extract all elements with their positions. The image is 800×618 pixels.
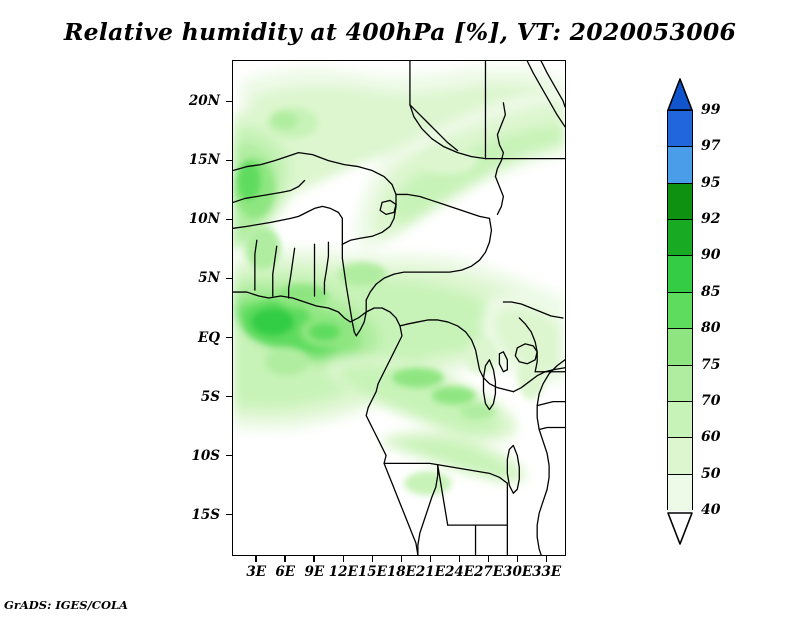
colorbar-tick-label: 95 bbox=[701, 175, 720, 191]
colorbar-tick-label: 40 bbox=[701, 502, 720, 518]
x-axis-tick bbox=[255, 556, 257, 562]
colorbar-arrow-bottom bbox=[667, 512, 693, 545]
colorbar-tick-label: 60 bbox=[701, 429, 720, 445]
y-axis-tick-label: 20N bbox=[170, 93, 220, 109]
y-axis-tick bbox=[226, 337, 232, 339]
x-axis-tick bbox=[372, 556, 374, 562]
y-axis-tick-label: 10S bbox=[170, 448, 220, 464]
colorbar-tick-label: 75 bbox=[701, 357, 720, 373]
colorbar-bands bbox=[667, 110, 693, 510]
colorbar-band bbox=[668, 111, 692, 147]
y-axis-tick-label: 10N bbox=[170, 211, 220, 227]
colorbar-tick-label: 97 bbox=[701, 138, 720, 154]
x-axis-tick-label: 33E bbox=[522, 564, 572, 580]
x-axis-tick bbox=[401, 556, 403, 562]
colorbar-arrow-top bbox=[667, 78, 693, 111]
colorbar-band bbox=[668, 329, 692, 365]
y-axis-tick bbox=[226, 101, 232, 103]
x-axis-tick bbox=[343, 556, 345, 562]
y-axis-tick-label: 5N bbox=[170, 270, 220, 286]
colorbar-tick-label: 92 bbox=[701, 211, 720, 227]
y-axis-tick bbox=[226, 514, 232, 516]
y-axis-tick-label: 5S bbox=[170, 389, 220, 405]
colorbar-band bbox=[668, 438, 692, 474]
y-axis-tick bbox=[226, 396, 232, 398]
x-axis-tick bbox=[430, 556, 432, 562]
y-axis-tick bbox=[226, 455, 232, 457]
colorbar-band bbox=[668, 366, 692, 402]
plot-frame bbox=[232, 60, 566, 556]
colorbar-tick-label: 70 bbox=[701, 393, 720, 409]
y-axis-tick bbox=[226, 160, 232, 162]
attribution-label: GrADS: IGES/COLA bbox=[4, 598, 128, 612]
colorbar-band bbox=[668, 220, 692, 256]
colorbar-tick-label: 99 bbox=[701, 102, 720, 118]
colorbar-band bbox=[668, 147, 692, 183]
colorbar-band bbox=[668, 184, 692, 220]
colorbar-band bbox=[668, 475, 692, 511]
colorbar-tick-label: 50 bbox=[701, 466, 720, 482]
x-axis-tick bbox=[284, 556, 286, 562]
y-axis-tick-label: EQ bbox=[170, 330, 220, 346]
x-axis-tick bbox=[313, 556, 315, 562]
x-axis-tick bbox=[546, 556, 548, 562]
colorbar-tick-label: 85 bbox=[701, 284, 720, 300]
colorbar-band bbox=[668, 402, 692, 438]
y-axis-tick-label: 15S bbox=[170, 507, 220, 523]
y-axis-tick bbox=[226, 278, 232, 280]
colorbar: 999795929085807570605040 bbox=[667, 78, 693, 545]
colorbar-tick-label: 90 bbox=[701, 247, 720, 263]
page-title: Relative humidity at 400hPa [%], VT: 202… bbox=[0, 18, 800, 46]
colorbar-band bbox=[668, 256, 692, 292]
humidity-map bbox=[233, 61, 565, 555]
x-axis-tick bbox=[517, 556, 519, 562]
y-axis-tick-label: 15N bbox=[170, 152, 220, 168]
x-axis-tick bbox=[459, 556, 461, 562]
map-plot-area bbox=[232, 60, 566, 556]
colorbar-band bbox=[668, 293, 692, 329]
colorbar-tick-label: 80 bbox=[701, 320, 720, 336]
x-axis-tick bbox=[488, 556, 490, 562]
y-axis-tick bbox=[226, 219, 232, 221]
